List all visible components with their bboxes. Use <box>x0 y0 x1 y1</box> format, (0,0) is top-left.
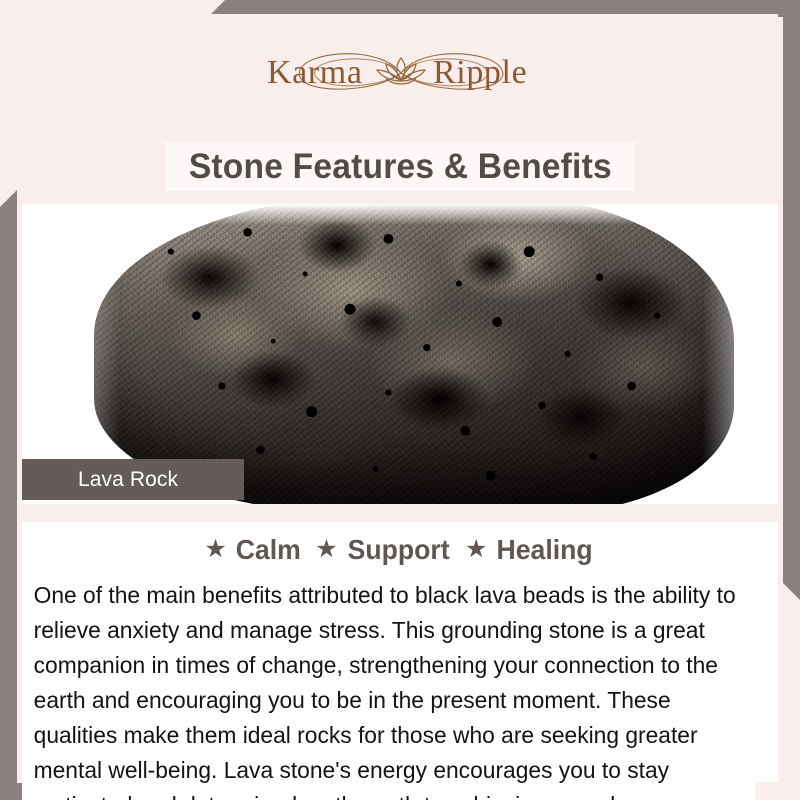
page-title: Stone Features & Benefits <box>188 147 611 187</box>
star-icon: ★ <box>204 537 226 562</box>
photo-caption-label: Lava Rock <box>22 468 178 492</box>
lotus-icon <box>377 58 425 84</box>
star-icon: ★ <box>315 537 337 562</box>
body-paragraph: One of the main benefits attributed to b… <box>22 572 755 800</box>
brand-logo: Karma Ripple <box>255 42 545 104</box>
content-card: Karma Ripple Stone Features & Benefits L… <box>22 14 778 782</box>
benefit-item-calm: ★ Calm <box>204 534 302 566</box>
photo-caption-band: Lava Rock <box>22 459 244 500</box>
brand-name-right: Ripple <box>433 54 527 91</box>
benefit-item-healing: ★ Healing <box>465 534 596 566</box>
stone-photo: Lava Rock <box>22 204 778 504</box>
title-band: Stone Features & Benefits <box>165 142 635 191</box>
title-section: Stone Features & Benefits <box>22 128 778 204</box>
frame-accent-left <box>0 190 17 800</box>
benefit-label: Calm <box>236 534 301 566</box>
infographic-page: Karma Ripple Stone Features & Benefits L… <box>0 0 800 800</box>
benefits-row: ★ Calm ★ Support ★ Healing <box>22 522 778 572</box>
brand-header: Karma Ripple <box>22 14 778 128</box>
star-icon: ★ <box>465 537 487 562</box>
divider-strip <box>22 504 778 522</box>
frame-accent-right <box>783 0 800 600</box>
benefit-item-support: ★ Support <box>315 534 452 566</box>
brand-logo-artwork: Karma Ripple <box>255 42 545 104</box>
benefit-label: Support <box>347 534 449 566</box>
benefit-label: Healing <box>497 534 593 566</box>
brand-name-left: Karma <box>267 54 363 91</box>
